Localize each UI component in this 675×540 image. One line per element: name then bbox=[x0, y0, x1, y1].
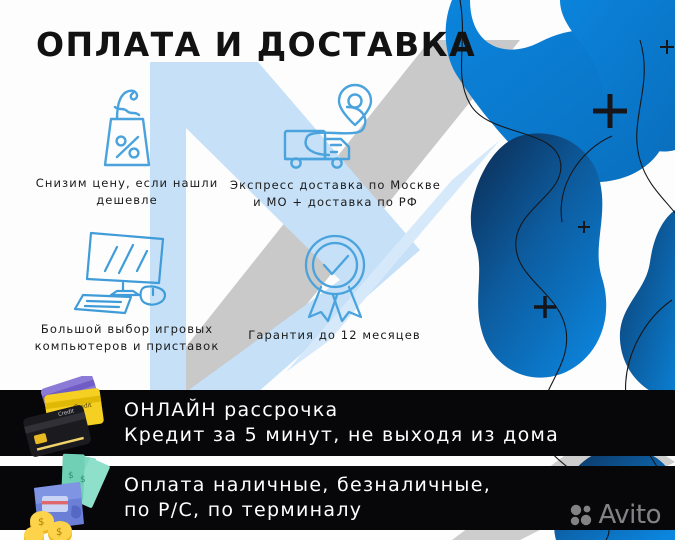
award-ribbon-check-icon bbox=[232, 229, 437, 323]
feature-wide-selection: Большой выбор игровых компьютеров и прис… bbox=[22, 225, 232, 354]
feature-price-match-text: Снизим цену, если нашли дешевле bbox=[22, 175, 232, 208]
svg-text:$: $ bbox=[80, 475, 86, 485]
feature-wide-selection-text: Большой выбор игровых компьютеров и прис… bbox=[22, 321, 232, 354]
feature-express-delivery: Экспресс доставка по Москве и МО + доста… bbox=[228, 81, 443, 210]
feature-grid: Снизим цену, если нашли дешевле bbox=[0, 85, 460, 385]
installment-bar-text: ОНЛАЙН рассрочка Кредит за 5 минут, не в… bbox=[124, 398, 559, 448]
avito-wordmark: Avito bbox=[599, 500, 661, 530]
feature-warranty-text: Гарантия до 12 месяцев bbox=[232, 327, 437, 344]
delivery-truck-route-pin-icon bbox=[228, 81, 443, 173]
svg-text:$: $ bbox=[68, 471, 74, 481]
svg-text:$: $ bbox=[38, 517, 44, 528]
shopping-bag-percent-icon bbox=[22, 85, 232, 171]
feature-price-match: Снизим цену, если нашли дешевле bbox=[22, 85, 232, 208]
promo-poster: ОПЛАТА И ДОСТАВКА Снизим цену, если нашл… bbox=[0, 0, 675, 540]
installment-bar: Credit Credit ОНЛАЙН рассрочка Кредит за… bbox=[0, 390, 675, 456]
poster-title: ОПЛАТА И ДОСТАВКА bbox=[36, 28, 476, 61]
payment-methods-bar-text: Оплата наличные, безналичные, по Р/С, по… bbox=[124, 473, 491, 523]
desktop-computer-keyboard-mouse-icon bbox=[22, 225, 232, 317]
feature-warranty: Гарантия до 12 месяцев bbox=[232, 229, 437, 344]
blob-middle-right bbox=[471, 133, 606, 377]
feature-express-delivery-text: Экспресс доставка по Москве и МО + доста… bbox=[228, 177, 443, 210]
svg-text:$: $ bbox=[56, 527, 62, 538]
avito-watermark: Avito bbox=[568, 500, 661, 530]
wallet-cash-coins-icon: $ $ $ $ bbox=[18, 452, 126, 540]
avito-dots-icon bbox=[568, 502, 594, 528]
